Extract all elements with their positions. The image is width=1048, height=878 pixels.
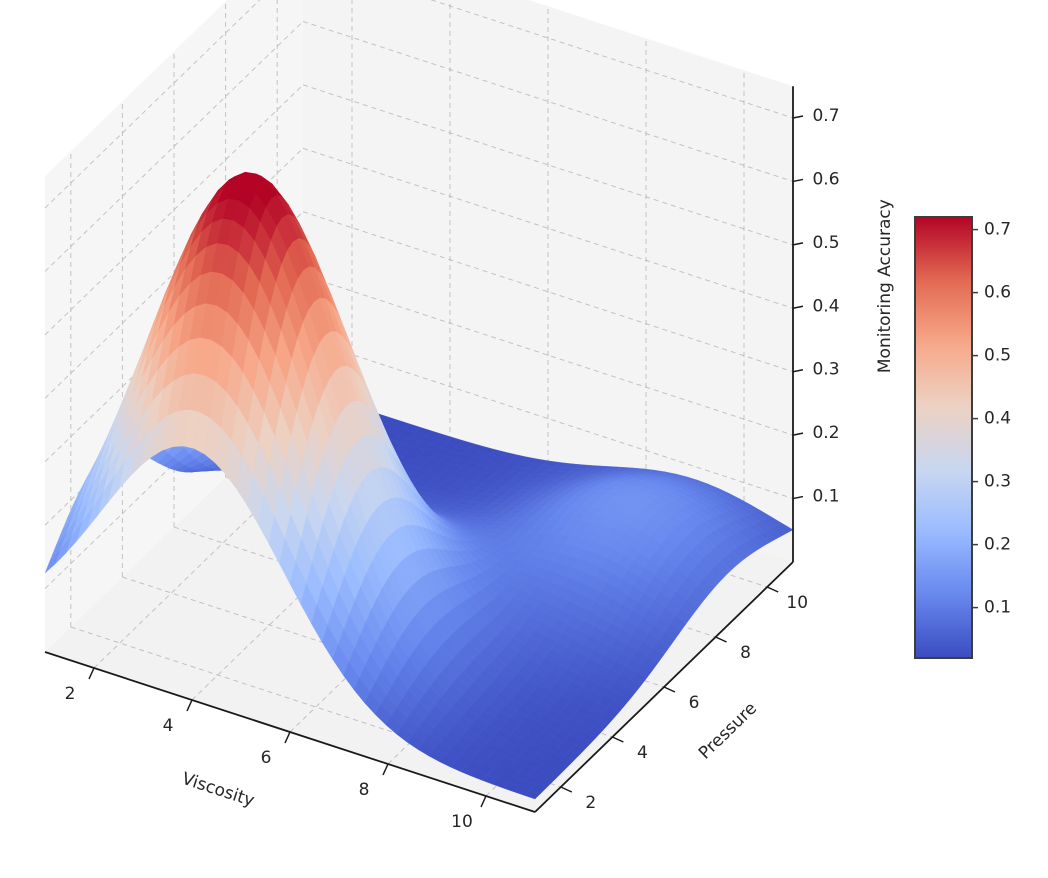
- tick-y: [612, 737, 623, 742]
- tick-label-x-8: 8: [359, 780, 370, 800]
- tick-z: [793, 243, 803, 245]
- colorbar-tick-label-0.2: 0.2: [984, 535, 1011, 555]
- tick-y: [561, 787, 572, 792]
- colorbar-tick-label-0.3: 0.3: [984, 472, 1011, 492]
- tick-label-x-2: 2: [65, 684, 76, 704]
- tick-label-z-0.6: 0.6: [812, 169, 839, 189]
- tick-label-z-0.7: 0.7: [812, 106, 839, 126]
- colorbar: 0.10.20.30.40.50.60.7: [915, 217, 1011, 658]
- tick-x: [285, 732, 290, 743]
- tick-label-x-6: 6: [261, 748, 272, 768]
- tick-z: [793, 179, 803, 181]
- colorbar-tick-label-0.4: 0.4: [984, 409, 1011, 429]
- tick-label-y-4: 4: [637, 743, 648, 763]
- tick-label-x-4: 4: [163, 716, 174, 736]
- surface-plot-canvas: 2468102468100.10.20.30.40.50.60.7Viscosi…: [0, 0, 1048, 878]
- tick-x: [481, 796, 486, 807]
- tick-y: [716, 637, 727, 642]
- tick-y: [664, 687, 675, 692]
- tick-label-z-0.4: 0.4: [812, 296, 839, 316]
- tick-z: [793, 370, 803, 372]
- colorbar-tick-label-0.5: 0.5: [984, 346, 1011, 366]
- tick-label-z-0.1: 0.1: [812, 487, 839, 507]
- tick-label-y-6: 6: [689, 693, 700, 713]
- tick-z: [793, 497, 803, 499]
- tick-z: [793, 306, 803, 308]
- colorbar-tick-label-0.7: 0.7: [984, 220, 1011, 240]
- axis-title-z: Monitoring Accuracy: [875, 199, 895, 373]
- tick-label-y-10: 10: [786, 593, 808, 613]
- tick-x: [383, 764, 388, 775]
- tick-label-z-0.2: 0.2: [812, 423, 839, 443]
- tick-label-z-0.5: 0.5: [812, 233, 839, 253]
- axis-title-y: Pressure: [695, 699, 761, 764]
- tick-label-z-0.3: 0.3: [812, 360, 839, 380]
- colorbar-gradient-rect[interactable]: [915, 217, 972, 658]
- tick-z: [793, 116, 803, 118]
- colorbar-tick-label-0.6: 0.6: [984, 283, 1011, 303]
- axis-title-x: Viscosity: [179, 769, 256, 811]
- colorbar-tick-label-0.1: 0.1: [984, 598, 1011, 618]
- tick-y: [767, 587, 778, 592]
- tick-x: [187, 700, 192, 711]
- figure-3d-surface-plot: 2468102468100.10.20.30.40.50.60.7Viscosi…: [0, 0, 1048, 878]
- tick-x: [89, 668, 94, 679]
- tick-label-x-10: 10: [451, 812, 473, 832]
- tick-label-y-2: 2: [585, 793, 596, 813]
- tick-label-y-8: 8: [740, 643, 751, 663]
- tick-z: [793, 433, 803, 435]
